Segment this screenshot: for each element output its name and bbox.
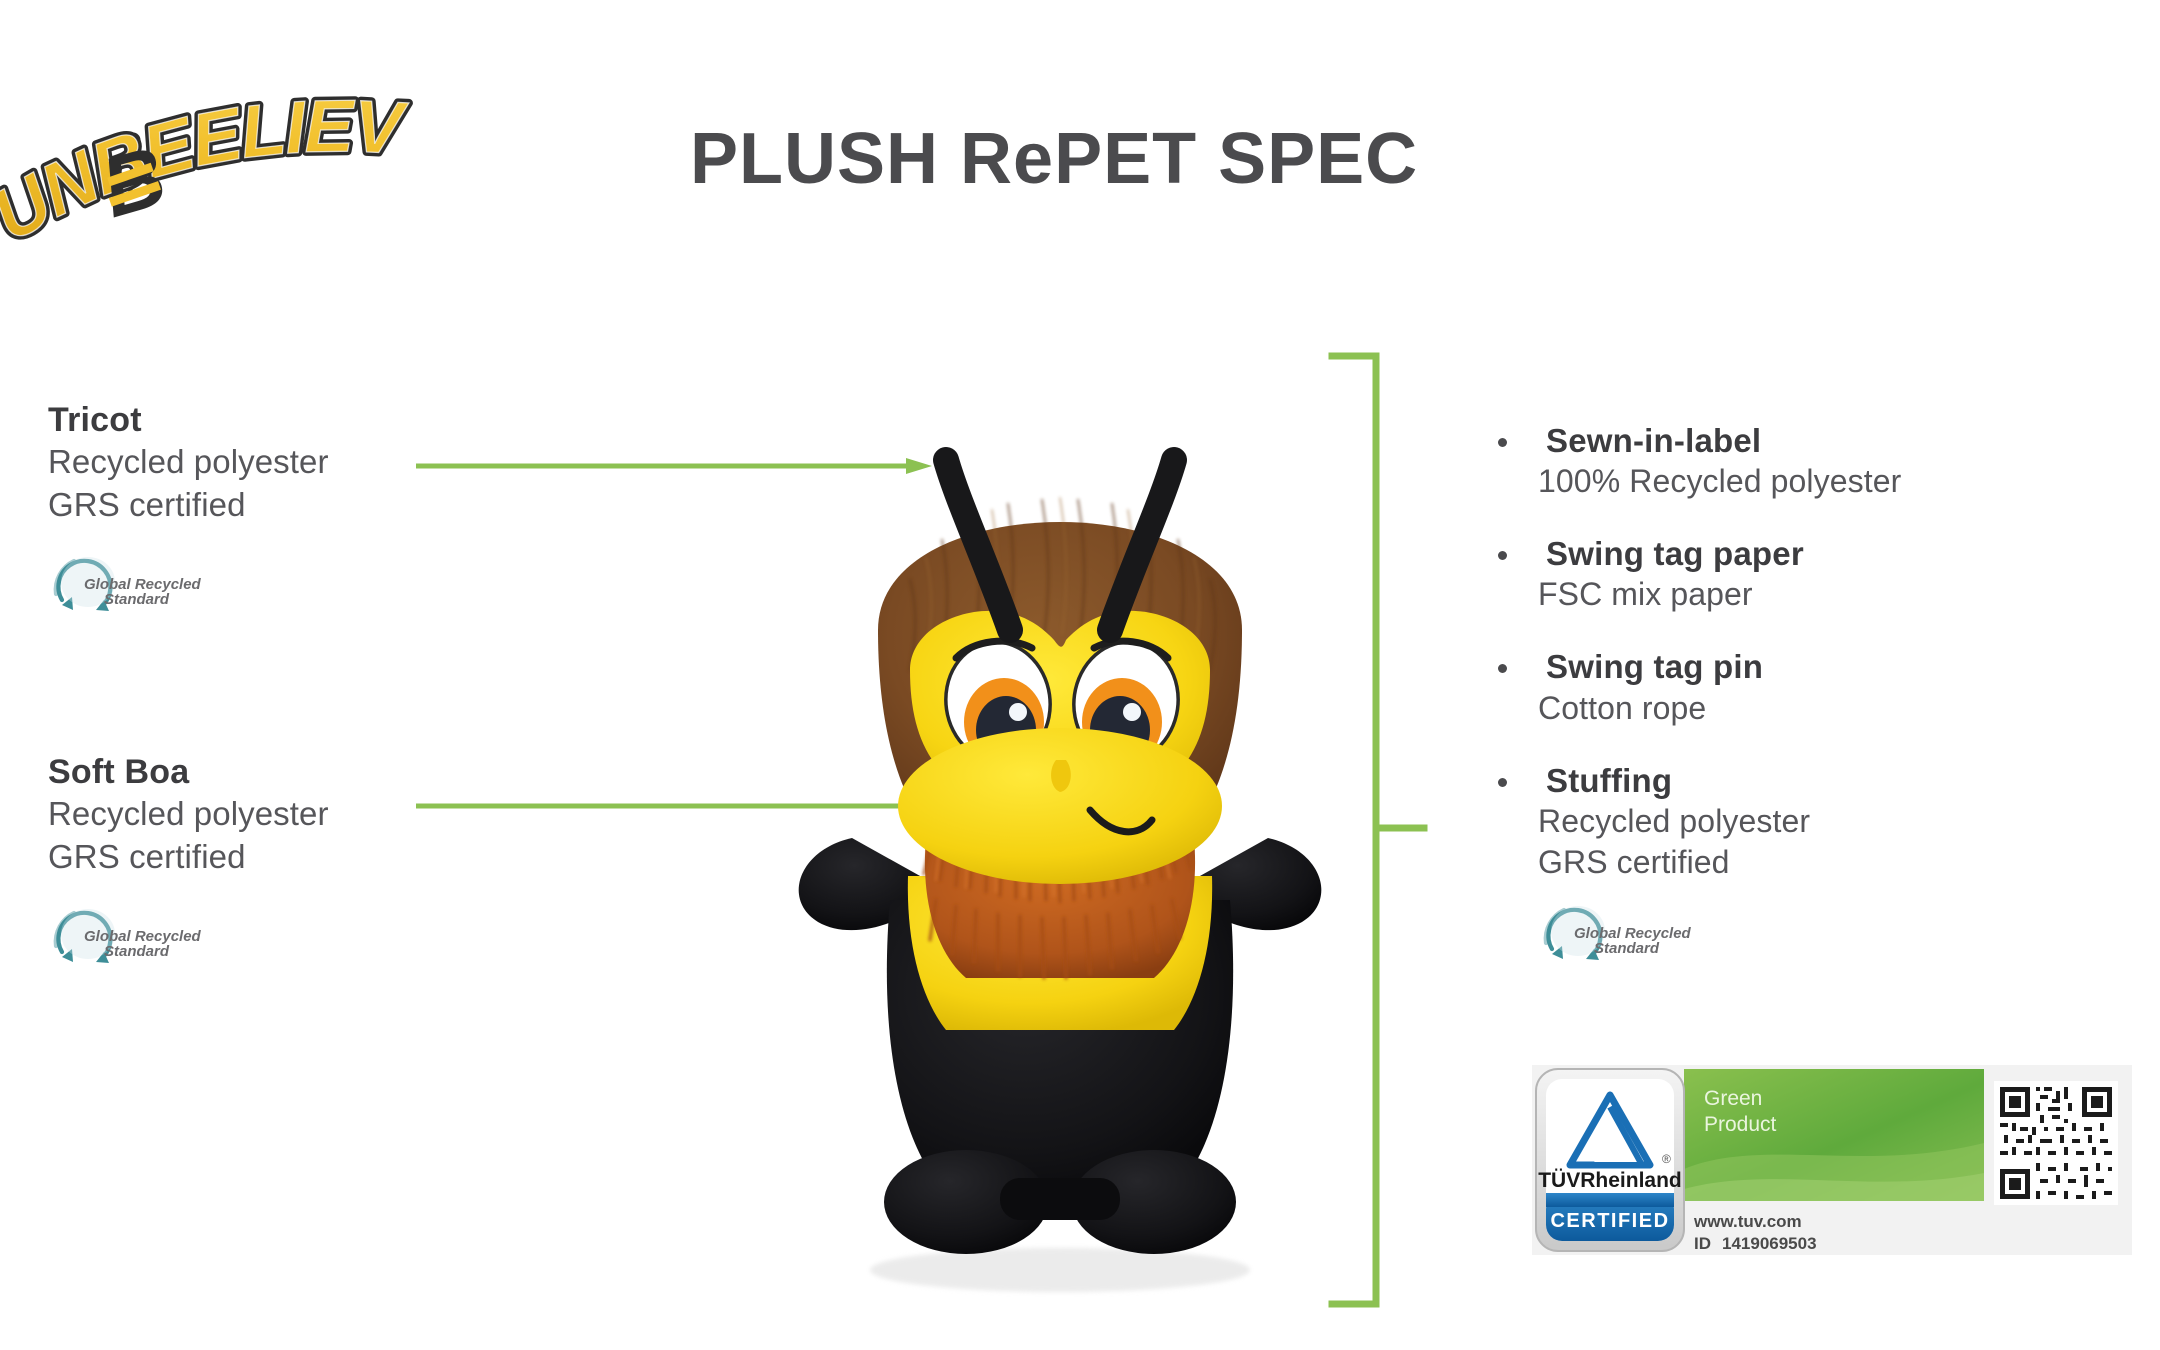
tuv-url: www.tuv.com — [1693, 1212, 1802, 1231]
bullet-sub: Cotton rope — [1538, 688, 2050, 729]
tuv-id-label: ID — [1694, 1234, 1711, 1253]
bullet-dot-icon — [1498, 551, 1507, 560]
qr-code — [1994, 1081, 2118, 1205]
spec-line-tricot-1: Recycled polyester — [48, 441, 468, 483]
bullet-sub: 100% Recycled polyester — [1538, 461, 2050, 502]
bullet-sub: FSC mix paper — [1538, 574, 2050, 615]
grs-logo-line2: Standard — [104, 943, 170, 960]
registered-mark: ® — [1662, 1152, 1671, 1166]
brand-logo: UNBEELIEVABLES UNBEELIEVABLES UNBEELIEVA… — [0, 78, 540, 268]
spec-line-tricot-2: GRS certified — [48, 484, 468, 526]
bee-head — [878, 498, 1242, 884]
spec-title-tricot: Tricot — [48, 400, 468, 441]
tuv-brand-text: TÜVRheinland — [1538, 1169, 1682, 1192]
green-product-line1: Green — [1704, 1087, 1762, 1110]
grs-logo-line2: Standard — [1594, 940, 1660, 957]
global-recycled-standard-logo: Global Recycled Standard — [48, 900, 228, 972]
right-spec-list: Sewn-in-label 100% Recycled polyester Sw… — [1490, 420, 2050, 969]
spec-title-soft-boa: Soft Boa — [48, 752, 468, 793]
list-item-swing-tag-pin: Swing tag pin Cotton rope — [1490, 646, 2050, 728]
bullet-title: Swing tag paper — [1538, 533, 2050, 574]
list-item-sewn-in-label: Sewn-in-label 100% Recycled polyester — [1490, 420, 2050, 502]
spec-block-soft-boa: Soft Boa Recycled polyester GRS certifie… — [48, 752, 468, 972]
tuv-certified-text: CERTIFIED — [1550, 1210, 1669, 1232]
global-recycled-standard-logo: Global Recycled Standard — [1538, 897, 1718, 969]
plush-bee-photo — [760, 340, 1360, 1300]
bullet-title: Stuffing — [1538, 760, 2050, 801]
list-item-swing-tag-paper: Swing tag paper FSC mix paper — [1490, 533, 2050, 615]
svg-text:UNBEELIEVABLES: UNBEELIEVABLES — [0, 78, 410, 257]
bee-muzzle — [898, 728, 1222, 884]
spec-sheet-page: UNBEELIEVABLES UNBEELIEVABLES UNBEELIEVA… — [0, 0, 2160, 1350]
grs-logo-line2: Standard — [104, 591, 170, 608]
tuv-rheinland-badge: Green Product www.tuv.com ID 1419069503 — [1532, 1065, 2132, 1255]
bullet-sub: GRS certified — [1538, 842, 2050, 883]
bullet-dot-icon — [1498, 664, 1507, 673]
list-item-stuffing: Stuffing Recycled polyester GRS certifie… — [1490, 760, 2050, 969]
bullet-title: Sewn-in-label — [1538, 420, 2050, 461]
page-title: PLUSH RePET SPEC — [690, 118, 1418, 200]
spec-line-soft-boa-1: Recycled polyester — [48, 793, 468, 835]
spec-line-soft-boa-2: GRS certified — [48, 836, 468, 878]
bullet-sub: Recycled polyester — [1538, 801, 2050, 842]
green-product-line2: Product — [1704, 1113, 1777, 1136]
global-recycled-standard-logo: Global Recycled Standard — [48, 548, 228, 620]
tuv-id-value: 1419069503 — [1722, 1234, 1817, 1253]
bullet-title: Swing tag pin — [1538, 646, 2050, 687]
spec-block-tricot: Tricot Recycled polyester GRS certified … — [48, 400, 468, 620]
bullet-dot-icon — [1498, 438, 1507, 447]
bullet-dot-icon — [1498, 778, 1507, 787]
tuv-rheinland-mark: TÜVRheinland ® CERTIFIED — [1536, 1069, 1684, 1251]
